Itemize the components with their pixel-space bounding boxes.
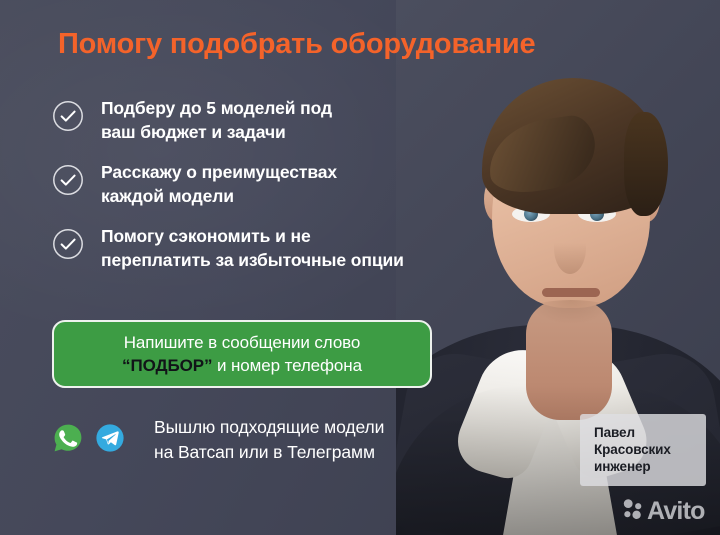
cta-line-2-tail: и номер телефона — [212, 356, 362, 375]
page-title: Помогу подобрать оборудование — [58, 28, 536, 61]
call-to-action-banner: Напишите в сообщении слово “ПОДБОР” и но… — [52, 320, 432, 388]
mouth — [542, 288, 600, 297]
cta-line-1: Напишите в сообщении слово — [124, 331, 361, 354]
chin — [526, 300, 616, 324]
check-circle-icon — [52, 228, 84, 260]
list-item: Подберу до 5 моделей под ваш бюджет и за… — [52, 96, 472, 144]
badge-role: инженер — [594, 458, 694, 475]
messenger-label: Вышлю подходящие модели на Ватсап или в … — [154, 415, 384, 465]
check-circle-icon — [52, 164, 84, 196]
list-item: Помогу сэкономить и не переплатить за из… — [52, 224, 472, 272]
list-item: Расскажу о преимуществах каждой модели — [52, 160, 472, 208]
cta-line-2: “ПОДБОР” и номер телефона — [122, 354, 362, 377]
messenger-row: Вышлю подходящие модели на Ватсап или в … — [52, 415, 384, 465]
messenger-icons — [52, 422, 136, 459]
benefits-list: Подберу до 5 моделей под ваш бюджет и за… — [52, 96, 472, 288]
badge-last-name: Красовских — [594, 441, 694, 458]
avito-dots-logo — [622, 498, 644, 525]
avito-watermark: Avito — [622, 498, 705, 525]
avito-wordmark: Avito — [647, 499, 705, 524]
avito-listing-image: Помогу подобрать оборудование Подберу до… — [0, 0, 720, 535]
name-badge: Павел Красовских инженер — [580, 414, 706, 486]
check-circle-icon — [52, 100, 84, 132]
list-item-label: Помогу сэкономить и не переплатить за из… — [101, 224, 404, 272]
telegram-icon[interactable] — [94, 422, 126, 459]
badge-first-name: Павел — [594, 424, 694, 441]
whatsapp-icon[interactable] — [52, 422, 84, 459]
cta-keyword: ПОДБОР — [130, 356, 204, 375]
list-item-label: Подберу до 5 моделей под ваш бюджет и за… — [101, 96, 332, 144]
nose — [554, 222, 586, 274]
list-item-label: Расскажу о преимуществах каждой модели — [101, 160, 337, 208]
hair-side — [624, 112, 668, 216]
